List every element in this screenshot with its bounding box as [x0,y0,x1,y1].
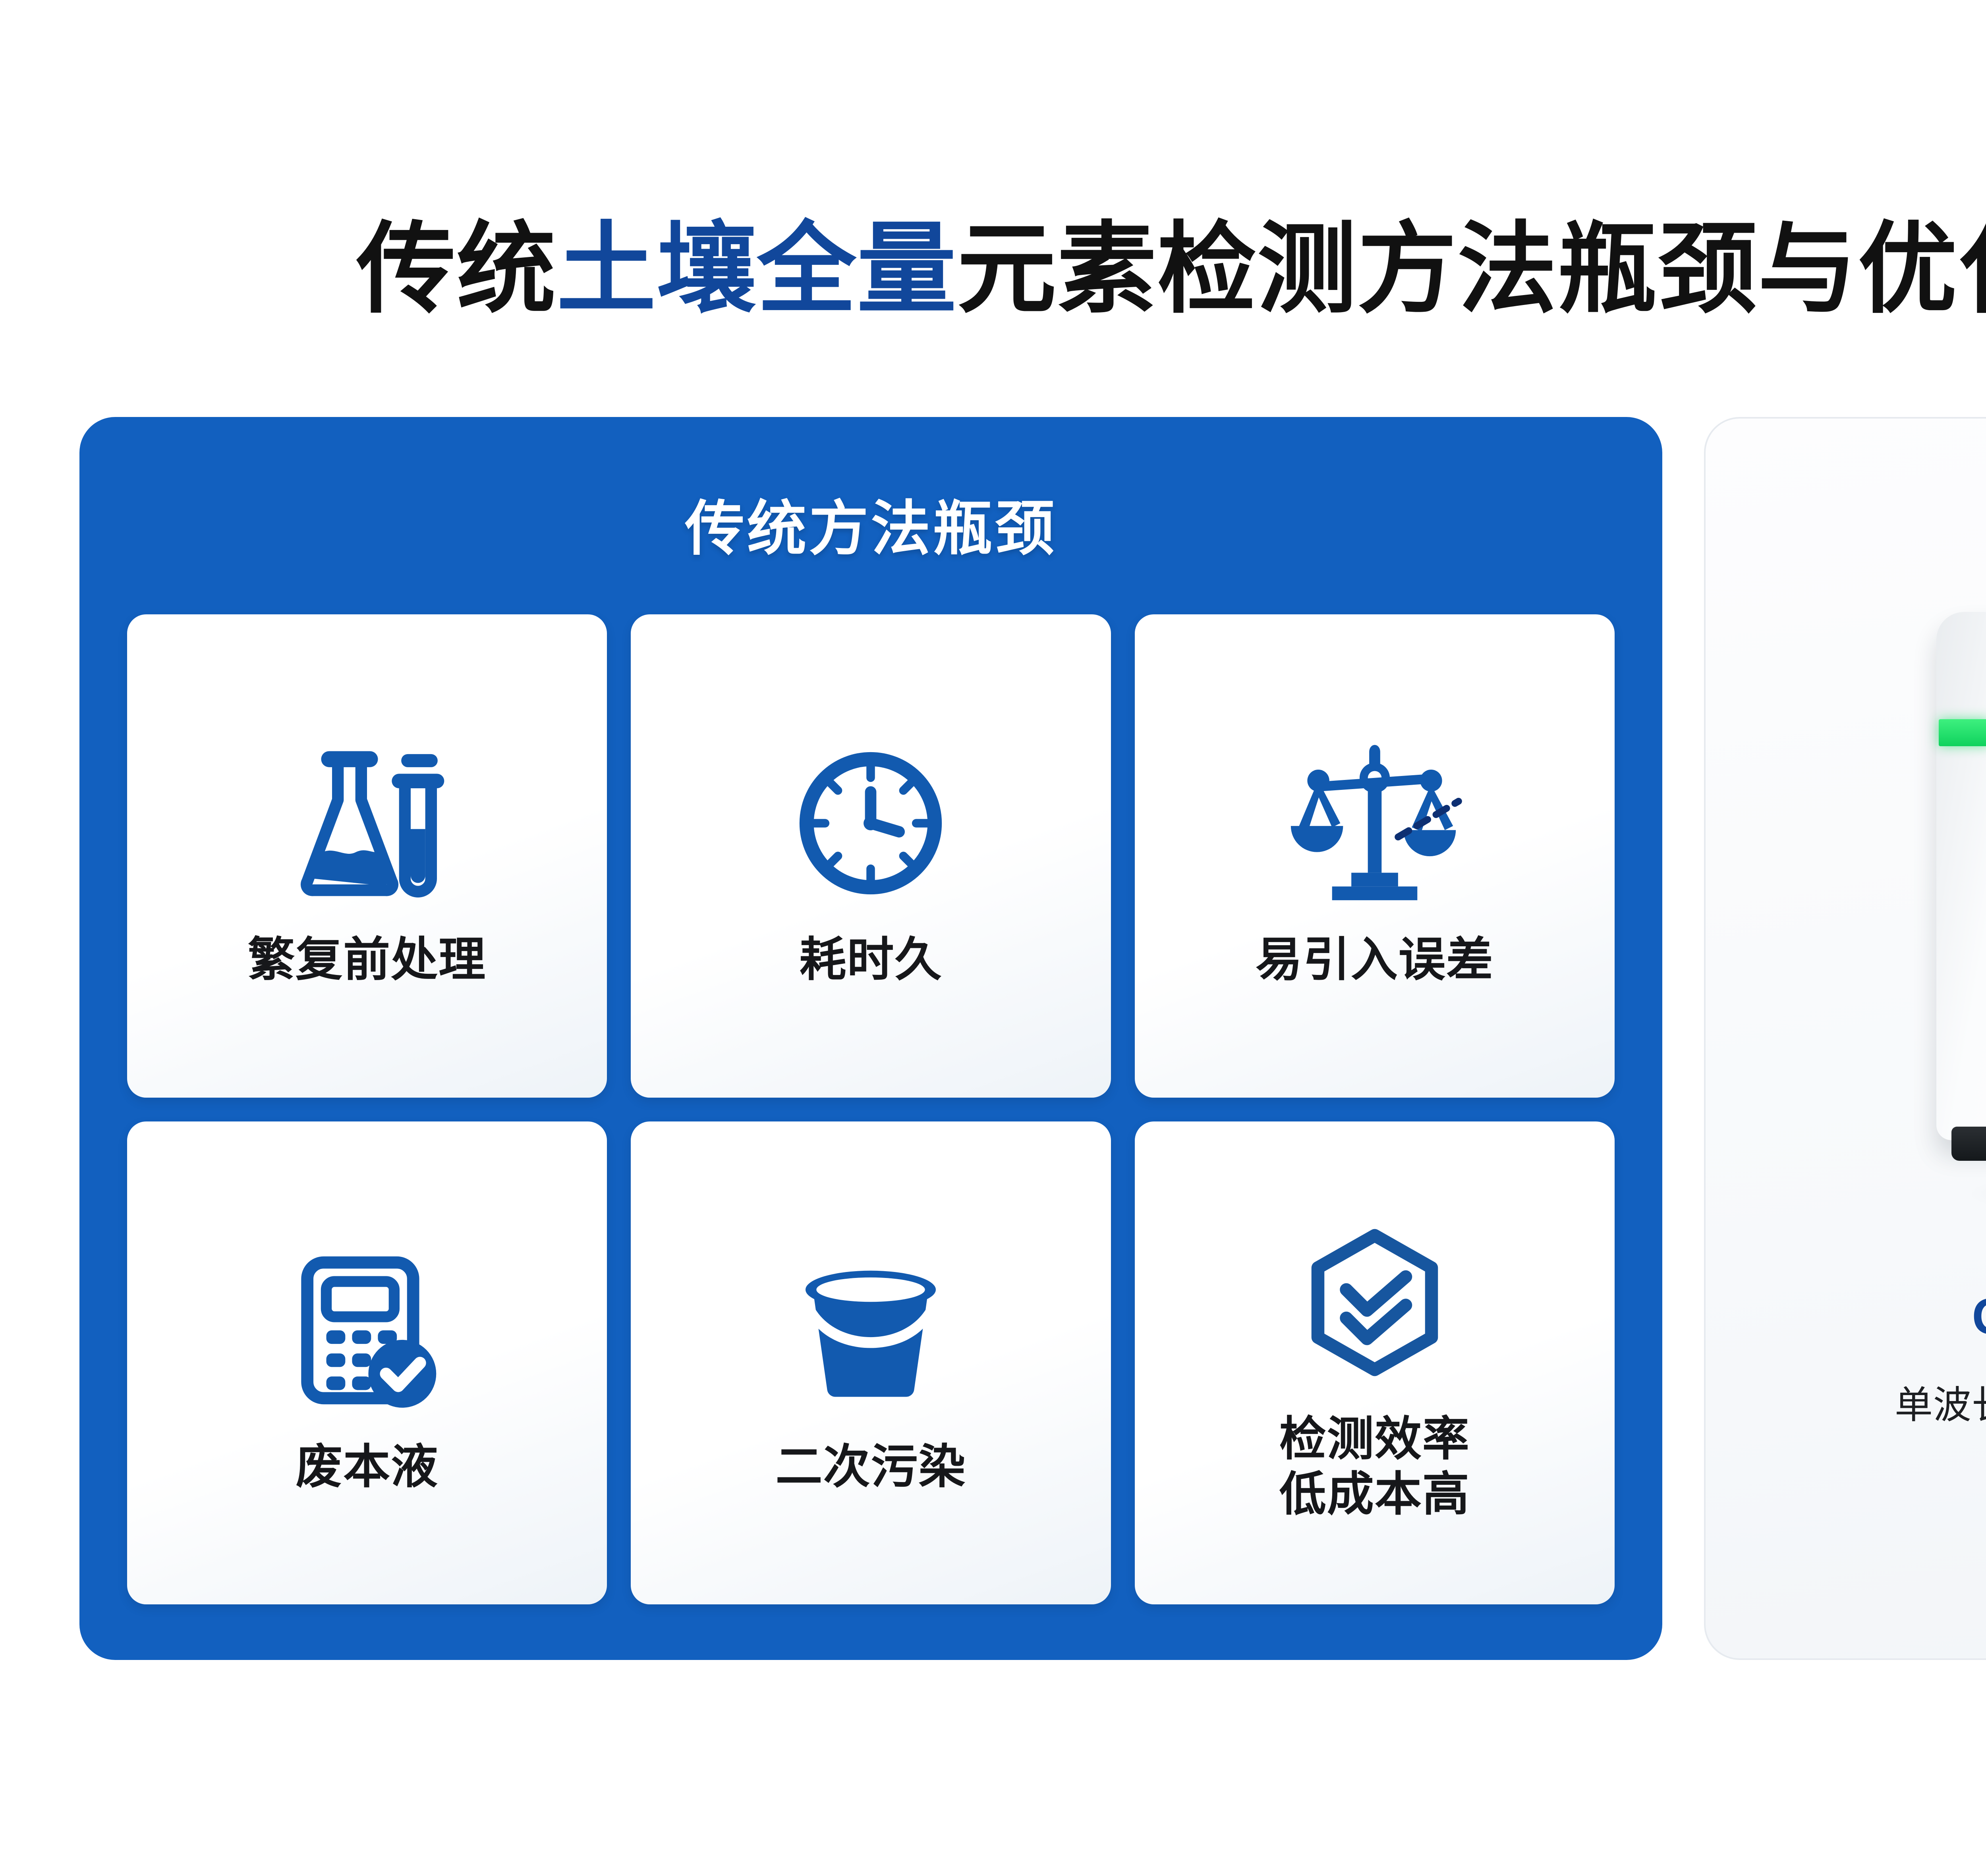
hexagon-double-check-icon [1297,1197,1452,1408]
bottleneck-card-4-label: 废本液 [296,1440,439,1495]
page-title-suffix: 元素检测方法瓶颈与优化方案分析 [957,214,1986,324]
status-led-left [1939,719,1986,746]
bottleneck-card-1[interactable]: 繁复前处理 [127,614,607,1098]
standard-code: GB/T47310-2026标准 [1972,1275,1986,1349]
bottleneck-card-3[interactable]: 易引入误差 [1135,614,1615,1098]
flask-test-tube-icon [280,718,454,928]
bottleneck-card-1-label: 繁复前处理 [248,932,486,988]
instrument-photo: GLMY® 创想仪器 [1859,588,1986,1263]
bottleneck-card-5[interactable]: 二次污染 [631,1121,1111,1605]
bottleneck-card-4[interactable]: 废本液 [127,1121,607,1605]
bottleneck-card-6-label-line2: 低成本高 [1279,1467,1470,1522]
bucket-icon [789,1225,952,1436]
slide-root: 传统土壤全量元素检测方法瓶颈与优化方案分析 传统方法瓶颈 [0,0,1986,1876]
bottleneck-card-5-label: 二次污染 [775,1440,966,1495]
bottleneck-card-6[interactable]: 检测效率 低成本高 [1135,1121,1615,1605]
page-title-prefix: 传统 [357,214,557,324]
panels-row: 传统方法瓶颈 [79,417,1986,1660]
bottleneck-card-2[interactable]: 耗时久 [631,614,1111,1098]
bottleneck-card-6-label: 检测效率 低成本高 [1279,1412,1470,1522]
instrument-shell [1936,612,1986,1140]
bottleneck-card-6-label-line1: 检测效率 [1279,1412,1470,1467]
page-title: 传统土壤全量元素检测方法瓶颈与优化方案分析 [0,214,1986,324]
traditional-bottleneck-panel: 传统方法瓶颈 [79,417,1662,1660]
instrument-base [1951,1127,1986,1161]
instrument-reflection [1972,1164,1986,1224]
calculator-check-icon [286,1225,448,1436]
balance-scale-error-icon [1285,718,1464,928]
optimized-solution-panel: 优化方案 GLMY® 创想仪器 [1704,417,1986,1660]
bottleneck-card-2-label: 耗时久 [799,932,942,988]
clock-icon [785,718,956,928]
bottleneck-card-grid: 繁复前处理 [127,614,1615,1604]
method-description: 单波长激发-能量色散X射线荧光光谱法 [1895,1374,1986,1429]
bottleneck-card-3-label: 易引入误差 [1256,932,1494,988]
xrf-spectrometer-instrument: GLMY® 创想仪器 [1913,588,1986,1180]
left-panel-heading: 传统方法瓶颈 [127,481,1615,567]
page-title-highlight: 土壤全量 [557,214,957,324]
